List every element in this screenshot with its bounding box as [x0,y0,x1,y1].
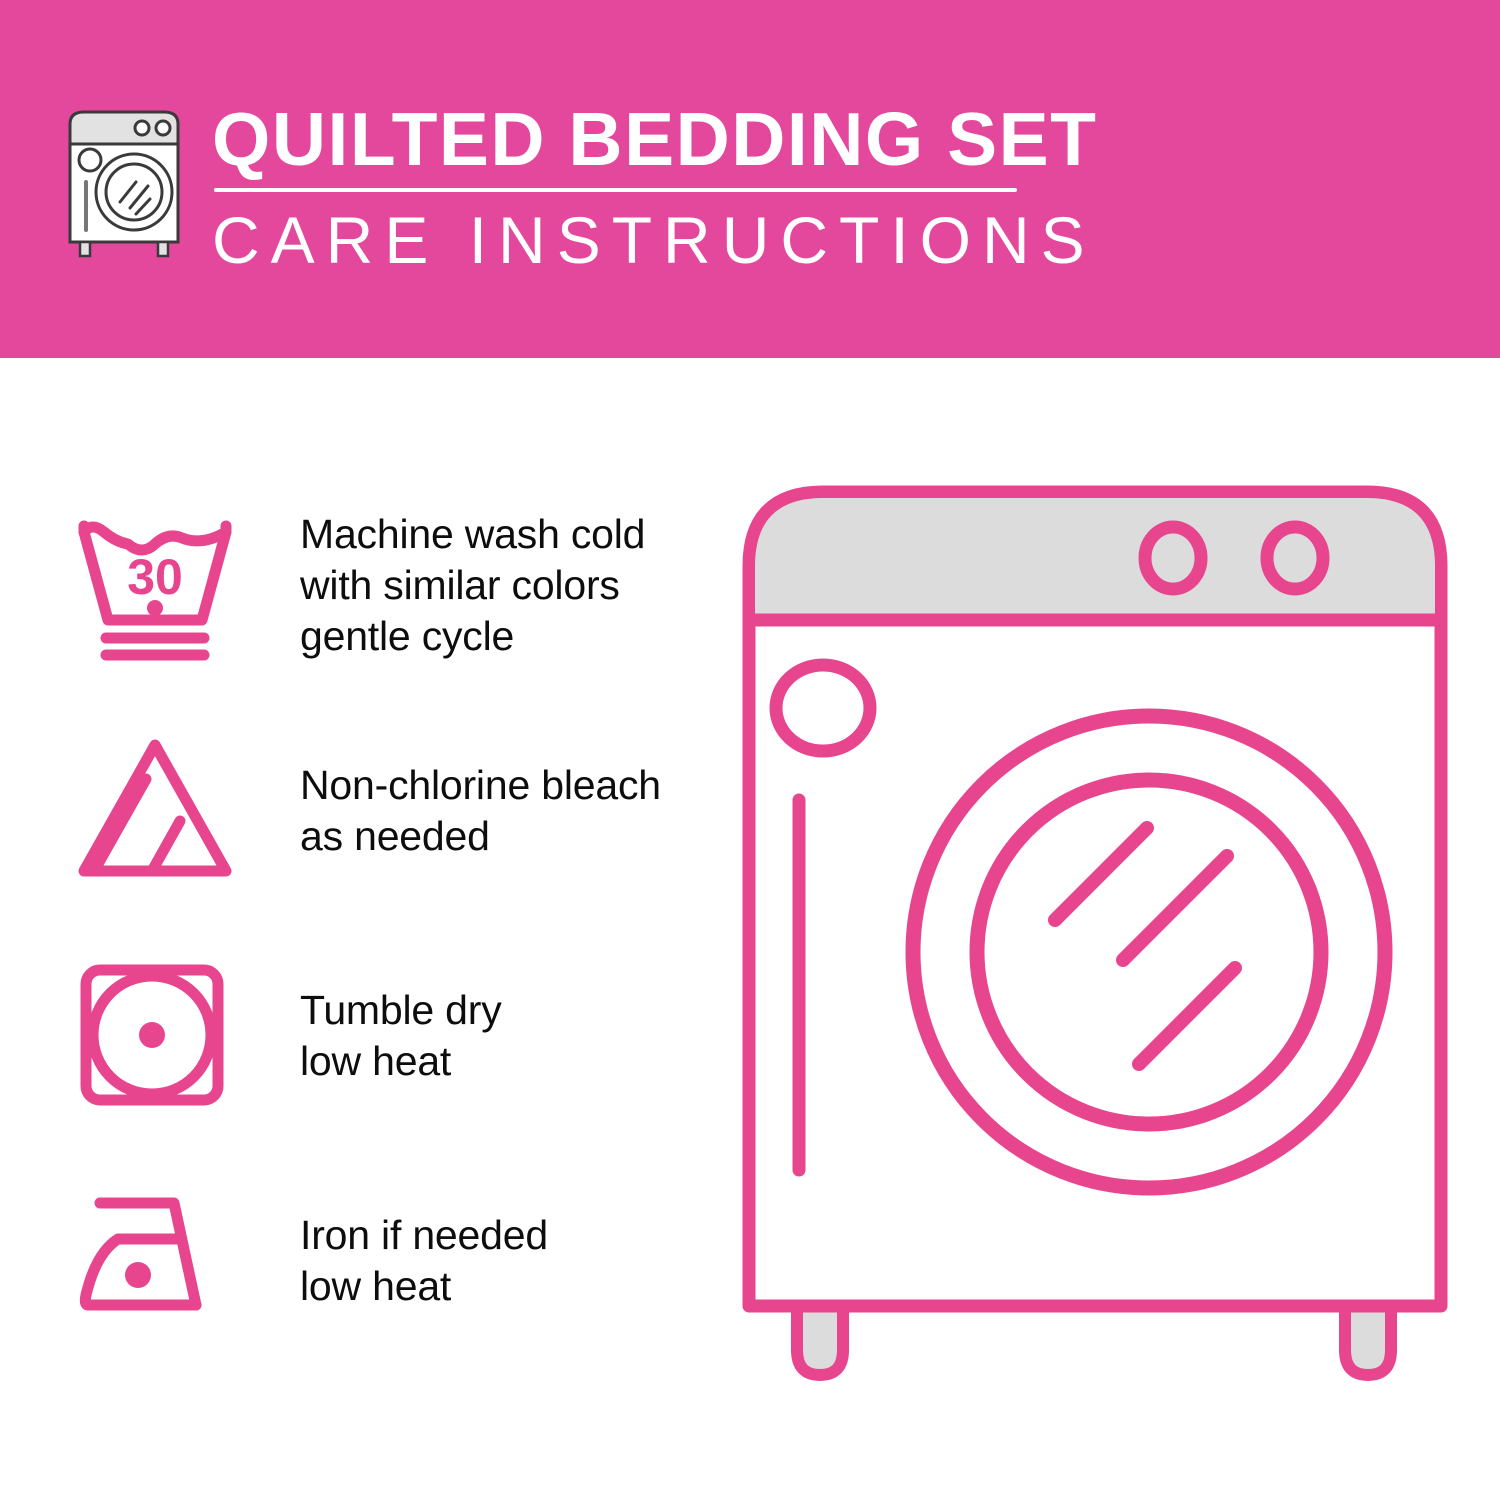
label-line: low heat [300,1261,548,1312]
label-line: with similar colors [300,560,645,611]
label-line: low heat [300,1036,502,1087]
care-item-iron: Iron if needed low heat [70,1183,710,1338]
care-item-label-iron: Iron if needed low heat [300,1210,548,1312]
front-load-washing-machine-illustration [735,470,1465,1430]
washing-machine-icon [62,104,192,264]
care-item-label-tumble-dry: Tumble dry low heat [300,985,502,1087]
label-line: Iron if needed [300,1210,548,1261]
care-item-label-machine-wash: Machine wash cold with similar colors ge… [300,509,645,662]
wash-temperature-value: 30 [127,549,183,605]
wash-tub-30-gentle-icon: 30 [70,508,240,663]
detergent-button [776,665,870,751]
non-chlorine-bleach-triangle-icon [70,733,240,888]
page-subtitle: CARE INSTRUCTIONS [212,202,1032,278]
header-banner: QUILTED BEDDING SET CARE INSTRUCTIONS [0,0,1500,358]
knob-left [1145,527,1201,589]
label-line: Non-chlorine bleach [300,760,661,811]
label-line: Tumble dry [300,985,502,1036]
care-item-machine-wash: 30 Machine wash cold with similar colors… [70,508,710,663]
care-instructions-infographic: QUILTED BEDDING SET CARE INSTRUCTIONS 30 [0,0,1500,1500]
label-line: gentle cycle [300,611,645,662]
control-panel [755,498,1435,620]
label-line: Machine wash cold [300,509,645,560]
care-item-tumble-dry: Tumble dry low heat [70,958,710,1113]
title-divider [214,188,1017,192]
care-symbol-list: 30 Machine wash cold with similar colors… [0,358,740,1500]
iron-low-heat-icon [70,1183,240,1338]
page-title: QUILTED BEDDING SET [212,96,1032,182]
care-item-bleach: Non-chlorine bleach as needed [70,733,710,888]
tumble-dry-low-heat-icon [70,958,240,1113]
label-line: as needed [300,811,661,862]
header-title-group: QUILTED BEDDING SET CARE INSTRUCTIONS [212,96,1032,278]
knob-right [1267,527,1323,589]
care-item-label-bleach: Non-chlorine bleach as needed [300,760,661,862]
